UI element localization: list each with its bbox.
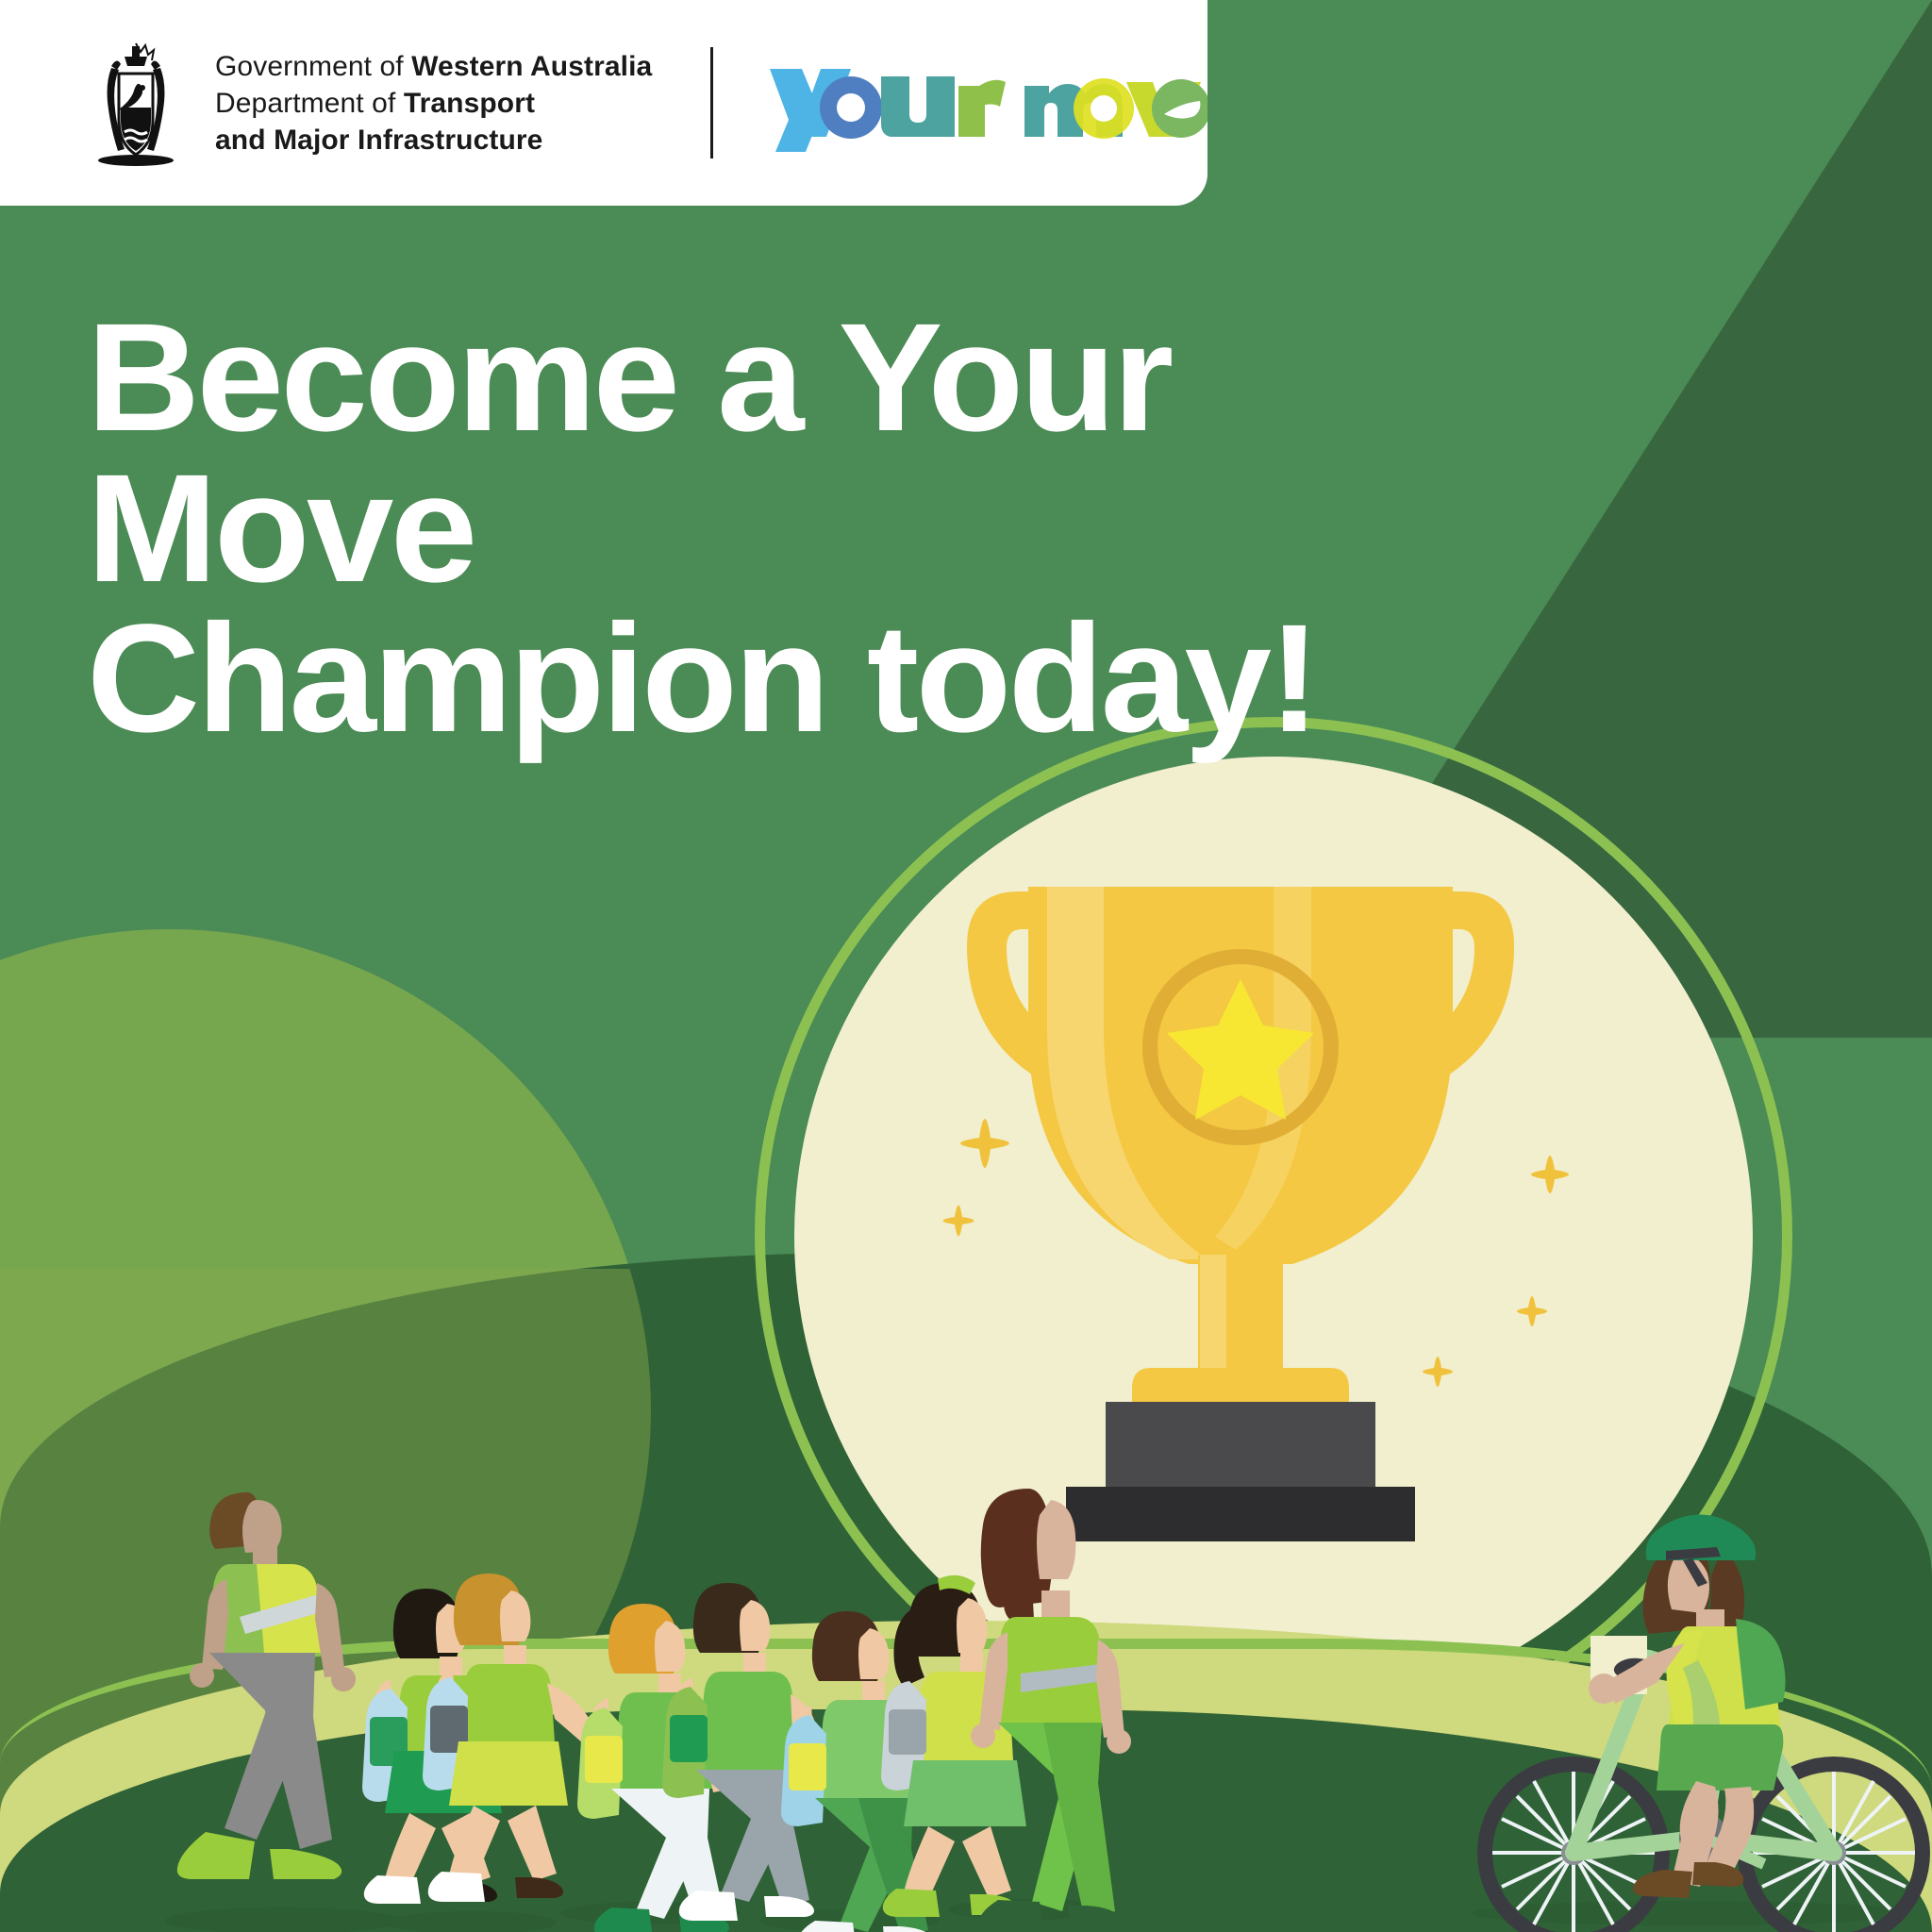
- gov-line-3: and Major Infrastructure: [215, 122, 652, 158]
- your-move-logo: [764, 54, 1207, 152]
- cyclist-shoe-front: [1633, 1870, 1692, 1898]
- gov-line-2-bold: Transport: [404, 88, 535, 119]
- gov-line-2-plain: Department of: [215, 88, 404, 119]
- wa-state-crest-icon: [83, 38, 189, 168]
- cyclist-shoe-rear: [1692, 1862, 1743, 1887]
- government-wordmark: Government of Western Australia Departme…: [215, 48, 652, 158]
- headline-line-1: Become a Your Move: [87, 291, 1171, 614]
- gov-line-3-bold: and Major Infrastructure: [215, 125, 542, 156]
- page-title: Become a Your Move Champion today!: [87, 302, 1588, 754]
- gov-line-1: Government of Western Australia: [215, 48, 652, 85]
- people-illustration: [0, 1441, 1932, 1932]
- poster-canvas: Government of Western Australia Departme…: [0, 0, 1932, 1932]
- headline-line-2: Champion today!: [87, 603, 1588, 754]
- gov-line-2: Department of Transport: [215, 85, 652, 122]
- header-card: Government of Western Australia Departme…: [0, 0, 1207, 206]
- cyclist: [1485, 1514, 1923, 1932]
- gov-line-1-bold: Western Australia: [411, 51, 652, 82]
- header-divider: [710, 47, 713, 158]
- gov-line-1-plain: Government of: [215, 51, 411, 82]
- adult-walking-leader: [177, 1492, 356, 1879]
